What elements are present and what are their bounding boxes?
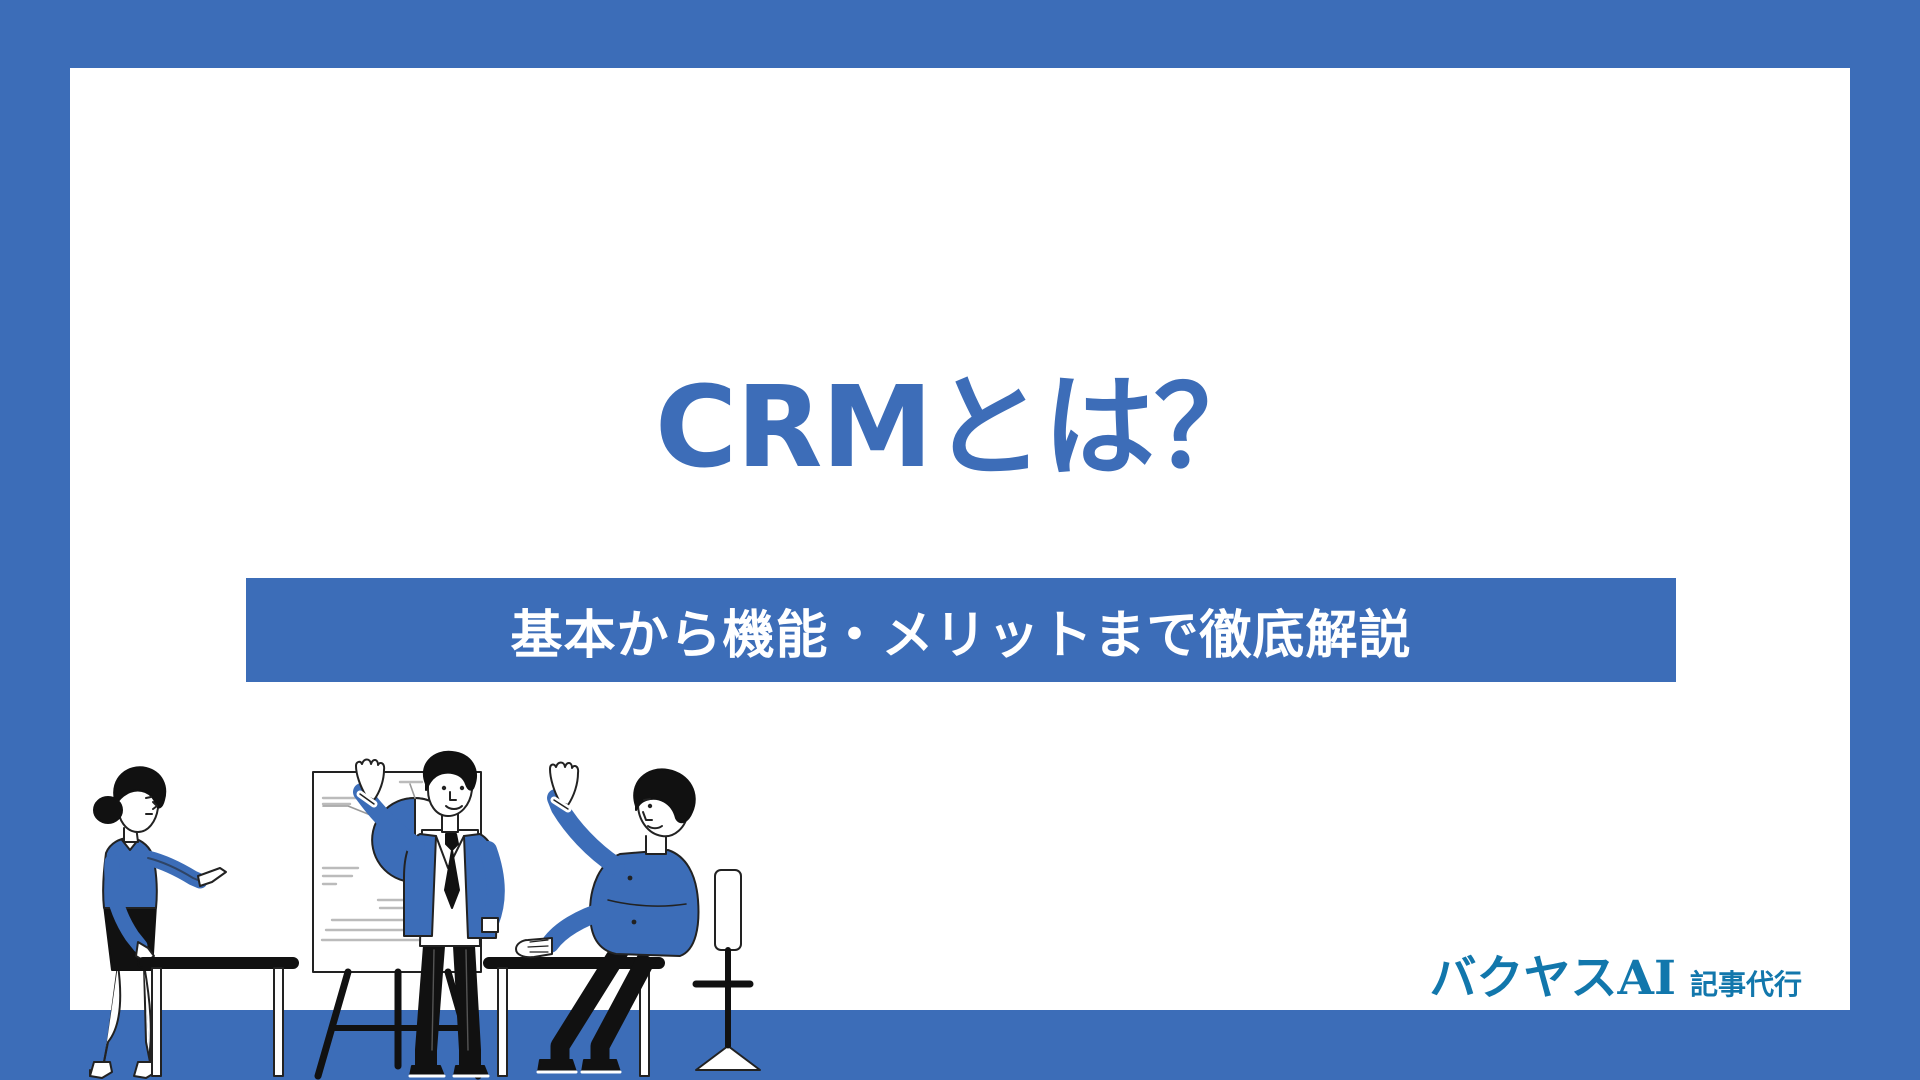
brand-logo-sub-text: 記事代行: [1690, 963, 1802, 1003]
brand-logo-main-text: バクヤスAI: [1430, 939, 1676, 1008]
business-team-presentation-illustration: [60, 750, 820, 1080]
subtitle-text: 基本から機能・メリットまで徹底解説: [510, 593, 1411, 668]
page-title: CRMとは？: [0, 370, 1920, 488]
slide-canvas: CRMとは？ 基本から機能・メリットまで徹底解説 バクヤスAI 記事代行: [0, 0, 1920, 1080]
brand-logo: バクヤスAI 記事代行: [1430, 939, 1802, 1008]
subtitle-banner: 基本から機能・メリットまで徹底解説: [246, 578, 1676, 682]
